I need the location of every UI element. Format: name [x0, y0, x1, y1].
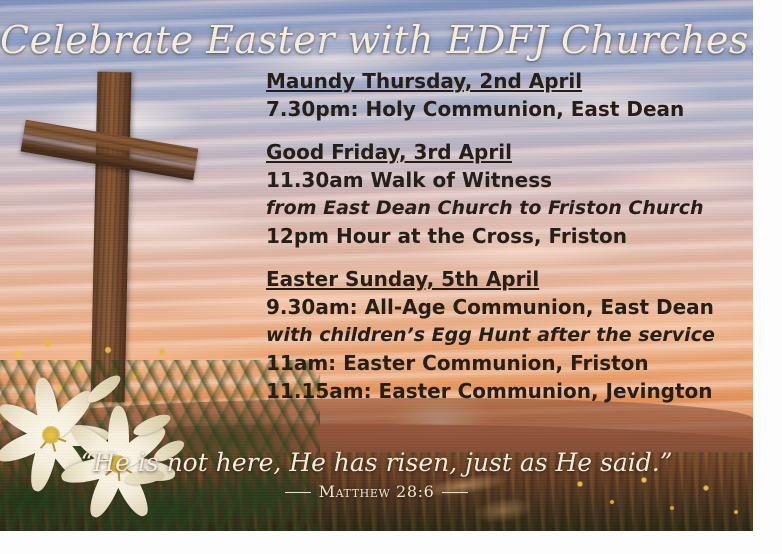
- schedule-heading: Easter Sunday, 5th April: [266, 266, 736, 293]
- schedule-line: 11.30am Walk of Witness: [266, 166, 736, 194]
- schedule-block: Maundy Thursday, 2nd April 7.30pm: Holy …: [266, 68, 736, 123]
- schedule-block: Easter Sunday, 5th April 9.30am: All-Age…: [266, 266, 736, 405]
- poster-canvas: Celebrate Easter with EDFJ Churches... M…: [0, 0, 782, 554]
- easter-poster-card: Celebrate Easter with EDFJ Churches... M…: [0, 0, 753, 531]
- scripture-quote-block: “He is not here, He has risen, just as H…: [0, 448, 753, 502]
- schedule-heading: Maundy Thursday, 2nd April: [266, 68, 736, 95]
- schedule-line: 11.15am: Easter Communion, Jevington: [266, 377, 736, 405]
- schedule-line: 12pm Hour at the Cross, Friston: [266, 222, 736, 250]
- schedule-heading: Good Friday, 3rd April: [266, 139, 736, 166]
- attribution-rule-left: [285, 492, 311, 493]
- scripture-attribution: Matthew 28:6: [0, 482, 753, 502]
- schedule-line: 11am: Easter Communion, Friston: [266, 349, 736, 377]
- schedule-line: 9.30am: All-Age Communion, East Dean: [266, 293, 736, 321]
- attribution-rule-right: [442, 492, 468, 493]
- service-schedule: Maundy Thursday, 2nd April 7.30pm: Holy …: [266, 68, 736, 405]
- schedule-line: from East Dean Church to Friston Church: [266, 194, 736, 222]
- schedule-block: Good Friday, 3rd April 11.30am Walk of W…: [266, 139, 736, 250]
- scripture-quote-text: “He is not here, He has risen, just as H…: [0, 448, 753, 478]
- schedule-line: with children’s Egg Hunt after the servi…: [266, 321, 736, 349]
- poster-headline: Celebrate Easter with EDFJ Churches...: [0, 18, 753, 62]
- schedule-line: 7.30pm: Holy Communion, East Dean: [266, 95, 736, 123]
- attribution-reference: Matthew 28:6: [319, 482, 435, 501]
